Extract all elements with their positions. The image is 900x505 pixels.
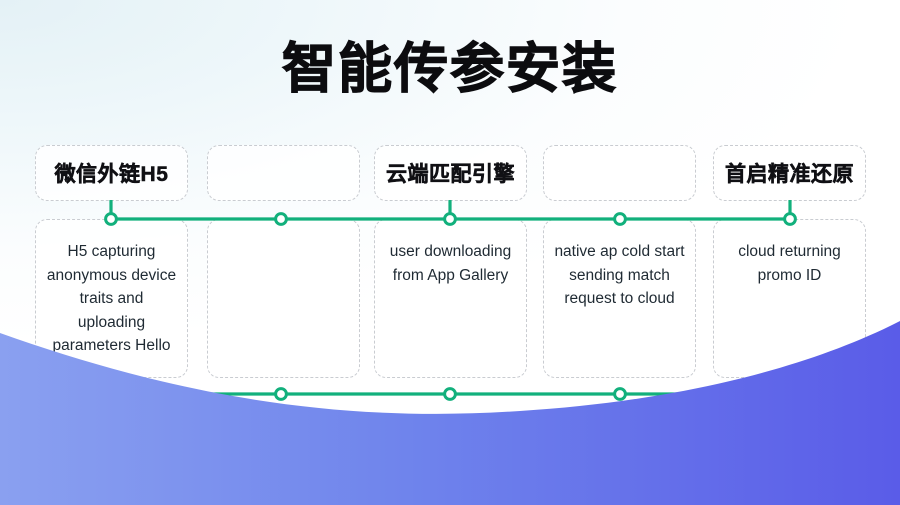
timeline-node-top-2[interactable] [276, 214, 287, 225]
timeline-node-bottom-5[interactable] [785, 389, 796, 400]
timeline-node-top-5[interactable] [785, 214, 796, 225]
timeline-node-bottom-4[interactable] [615, 389, 626, 400]
timeline-node-bottom-2[interactable] [276, 389, 287, 400]
timeline-node-bottom-3[interactable] [445, 389, 456, 400]
timeline-node-top-4[interactable] [615, 214, 626, 225]
timeline-node-top-1[interactable] [106, 214, 117, 225]
timeline-connectors [0, 0, 900, 505]
timeline-node-top-3[interactable] [445, 214, 456, 225]
timeline-node-bottom-1[interactable] [106, 389, 117, 400]
slide-canvas: 智能传参安装 微信外链H5 云端匹配引擎 首启精准还原 H5 capturing… [0, 0, 900, 505]
